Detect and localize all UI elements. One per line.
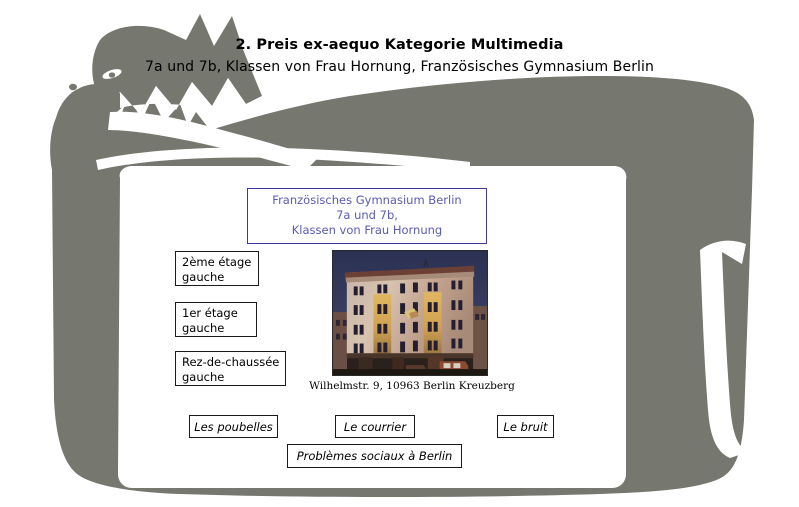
school-header-box: Französisches Gymnasium Berlin 7a und 7b… (247, 188, 487, 244)
topic-button-le-courrier[interactable]: Le courrier (335, 415, 415, 438)
floor-button-rez-de-chaussee-gauche[interactable]: Rez-de-chaussée gauche (175, 351, 286, 386)
topic-button-le-bruit[interactable]: Le bruit (497, 415, 554, 438)
floor-label-line-1: 1er étage (182, 306, 252, 321)
photo-caption: Wilhelmstr. 9, 10963 Berlin Kreuzberg (297, 380, 527, 392)
floor-label-line-2: gauche (182, 370, 281, 385)
building-photo[interactable] (332, 250, 488, 376)
floor-label-line-1: 2ème étage (182, 255, 254, 270)
school-header-line-1: Französisches Gymnasium Berlin (250, 193, 484, 208)
page-subtitle: 7a und 7b, Klassen von Frau Hornung, Fra… (0, 59, 799, 75)
topic-button-problemes-sociaux-a-berlin[interactable]: Problèmes sociaux à Berlin (287, 444, 462, 468)
floor-button-1er-etage-gauche[interactable]: 1er étage gauche (175, 302, 257, 337)
slide-panel: Französisches Gymnasium Berlin 7a und 7b… (137, 175, 608, 478)
page-title: 2. Preis ex-aequo Kategorie Multimedia (0, 37, 799, 53)
school-header-line-2: 7a und 7b, (250, 208, 484, 223)
school-header-line-3: Klassen von Frau Hornung (250, 223, 484, 238)
floor-label-line-2: gauche (182, 270, 254, 285)
floor-label-line-1: Rez-de-chaussée (182, 355, 281, 370)
screenshot-root: 2. Preis ex-aequo Kategorie Multimedia 7… (0, 0, 799, 507)
topic-button-les-poubelles[interactable]: Les poubelles (189, 415, 278, 438)
floor-button-2eme-etage-gauche[interactable]: 2ème étage gauche (175, 251, 259, 286)
floor-label-line-2: gauche (182, 321, 252, 336)
